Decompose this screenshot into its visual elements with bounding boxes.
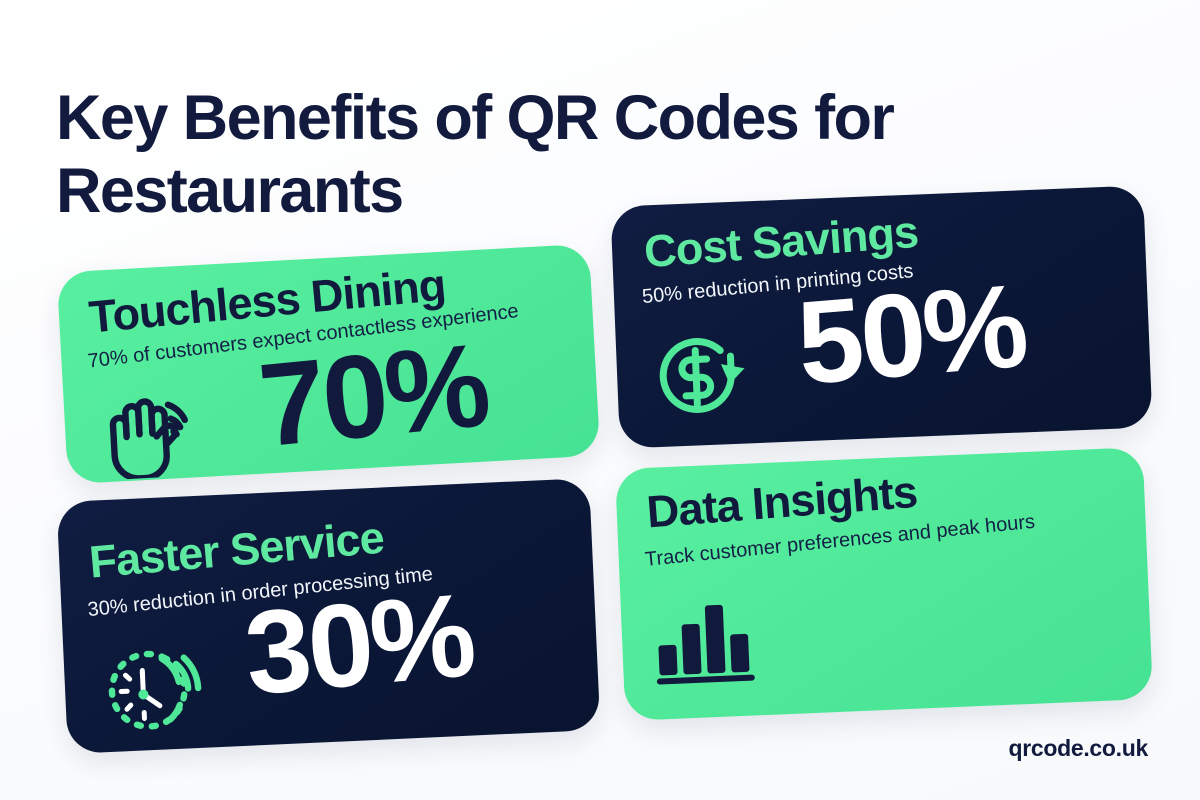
bar-chart-icon <box>648 591 758 692</box>
benefit-card-data-insights[interactable]: Data Insights Track customer preferences… <box>615 447 1153 721</box>
card-stat-cost-savings: 50% <box>793 258 1031 412</box>
benefit-card-touchless-dining[interactable]: Touchless Dining 70% of customers expect… <box>57 244 601 485</box>
card-content: Touchless Dining 70% of customers expect… <box>57 244 601 485</box>
benefit-card-faster-service[interactable]: Faster Service 30% reduction in order pr… <box>57 478 601 754</box>
dollar-circular-arrow-icon <box>643 321 751 434</box>
clock-speed-icon <box>91 636 206 746</box>
card-content: Data Insights Track customer preferences… <box>615 447 1153 721</box>
infographic-canvas: Key Benefits of QR Codes for Restaurants… <box>0 0 1200 800</box>
card-content: Faster Service 30% reduction in order pr… <box>57 478 601 754</box>
card-stat-faster-service: 30% <box>240 567 478 722</box>
brand-footer: qrcode.co.uk <box>1008 735 1148 762</box>
benefit-card-cost-savings[interactable]: Cost Savings 50% reduction in printing c… <box>610 185 1152 448</box>
hand-contactless-icon <box>91 387 204 484</box>
card-content: Cost Savings 50% reduction in printing c… <box>610 185 1152 448</box>
card-stat-touchless-dining: 70% <box>254 317 493 474</box>
